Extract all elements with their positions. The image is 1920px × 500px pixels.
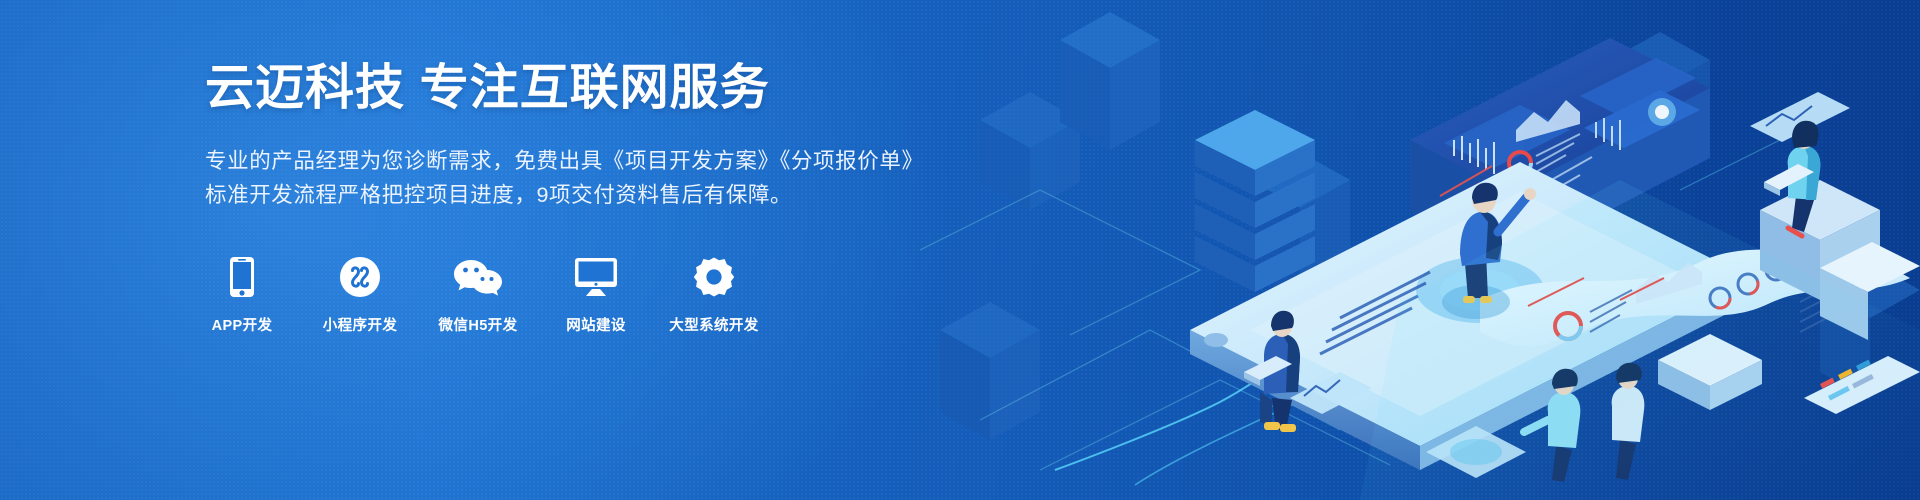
subtitle-line-1: 专业的产品经理为您诊断需求，免费出具《项目开发方案》《分项报价单》 xyxy=(205,144,965,178)
service-list: APP开发 小程序开发 xyxy=(205,252,965,335)
service-label: 网站建设 xyxy=(566,314,626,335)
subtitle-line-2: 标准开发流程严格把控项目进度，9项交付资料售后有保障。 xyxy=(205,178,965,212)
gear-icon xyxy=(693,252,735,298)
page-title: 云迈科技 专注互联网服务 xyxy=(205,60,965,118)
banner-subtitle: 专业的产品经理为您诊断需求，免费出具《项目开发方案》《分项报价单》 标准开发流程… xyxy=(205,144,965,212)
service-item-app[interactable]: APP开发 xyxy=(205,252,279,335)
service-item-wechat-h5[interactable]: 微信H5开发 xyxy=(441,252,515,335)
mobile-phone-icon xyxy=(229,252,255,298)
monitor-icon xyxy=(574,252,618,298)
service-item-website[interactable]: 网站建设 xyxy=(559,252,633,335)
isometric-illustration xyxy=(920,0,1920,500)
service-item-mini-program[interactable]: 小程序开发 xyxy=(323,252,397,335)
service-label: 小程序开发 xyxy=(323,314,398,335)
service-label: APP开发 xyxy=(212,314,273,335)
mini-program-icon xyxy=(339,252,381,298)
service-label: 大型系统开发 xyxy=(669,314,758,335)
promo-banner: 云迈科技 专注互联网服务 专业的产品经理为您诊断需求，免费出具《项目开发方案》《… xyxy=(0,0,1920,500)
banner-content: 云迈科技 专注互联网服务 专业的产品经理为您诊断需求，免费出具《项目开发方案》《… xyxy=(205,60,965,335)
service-item-large-system[interactable]: 大型系统开发 xyxy=(677,252,751,335)
service-label: 微信H5开发 xyxy=(439,314,518,335)
wechat-icon xyxy=(453,252,503,298)
